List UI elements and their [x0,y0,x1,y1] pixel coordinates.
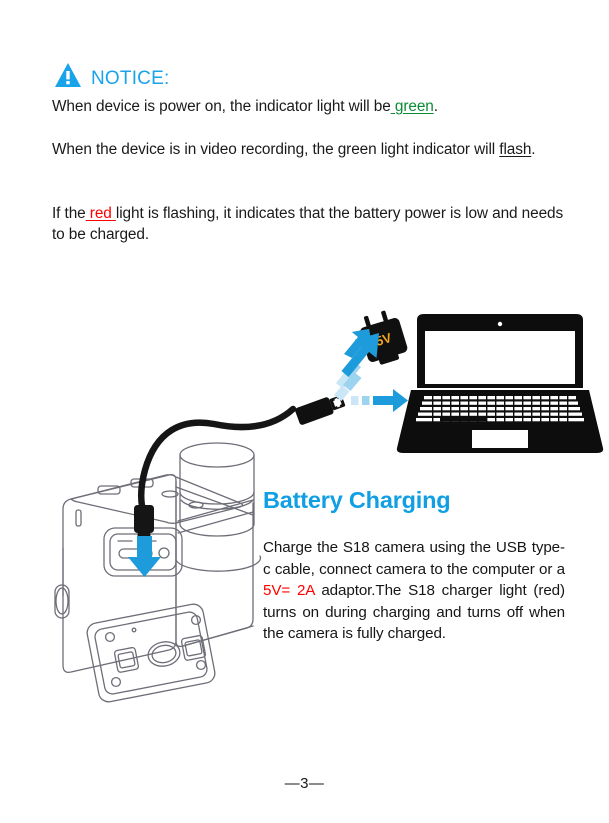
arrow-right-icon [351,389,408,412]
para3-text-after: light is flashing, it indicates that the… [52,205,563,243]
notice-paragraph-power-on: When device is power on, the indicator l… [52,96,572,117]
notice-paragraph-low-battery: If the red light is flashing, it indicat… [52,203,572,245]
para1-text-before: When device is power on, the indicator l… [52,98,391,115]
usb-connector-icon [294,392,346,426]
camera-device-illustration [55,443,260,704]
page-number: —3— [0,775,609,792]
warning-triangle-icon [54,62,82,89]
usb-c-plug-icon [134,505,154,540]
notice-heading: NOTICE: [54,62,169,89]
manual-page: NOTICE: When device is power on, the ind… [0,0,609,823]
arrow-up-shape [334,333,379,401]
para2-text-after: . [531,141,535,158]
charger-voltage-label: 5V [374,330,394,349]
charging-illustration: 5V [0,0,609,823]
keyword-green: green [391,98,434,115]
keyword-red: red [86,205,116,222]
wall-charger-icon: 5V [356,307,410,368]
laptop-icon [397,314,603,453]
arrow-up-icon [336,329,372,389]
bc-body-voltage: 5V= 2A [263,582,315,599]
bc-body-part-1: Charge the S18 camera using the USB type… [263,539,565,578]
keyword-flash: flash [499,141,531,158]
para2-text-before: When the device is in video recording, t… [52,141,499,158]
notice-paragraph-recording: When the device is in video recording, t… [52,139,572,160]
notice-label: NOTICE: [91,69,169,89]
battery-charging-body: Charge the S18 camera using the USB type… [263,537,565,645]
battery-charging-heading: Battery Charging [263,487,450,513]
para1-text-after: . [434,98,438,115]
arrow-down-into-port-icon [128,536,161,577]
para3-text-before: If the [52,205,86,222]
